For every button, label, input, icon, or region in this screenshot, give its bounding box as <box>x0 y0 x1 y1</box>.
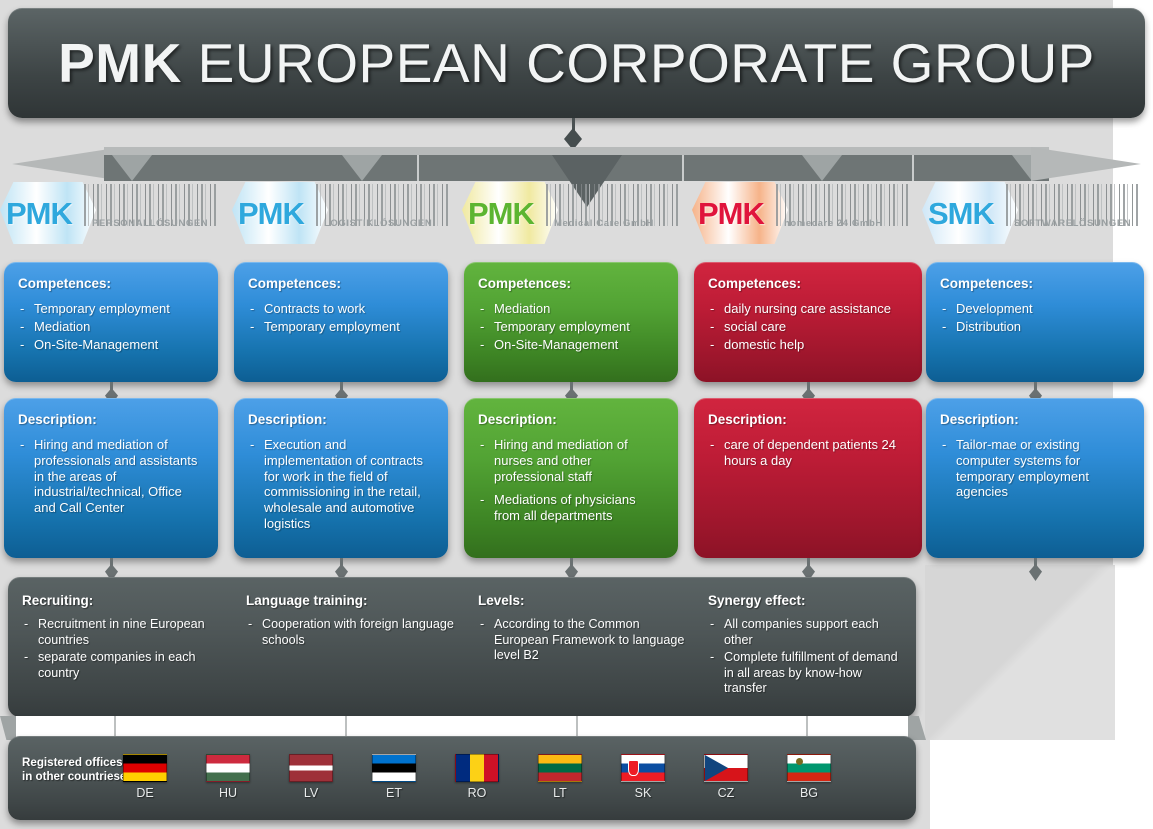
info-column-title: Levels: <box>478 593 688 608</box>
company-logo-1: PMKPERSONALLÖSUNGEN <box>0 178 230 250</box>
description-list: Hiring and mediation of nurses and other… <box>478 437 664 524</box>
description-list: Execution and implementation of contract… <box>248 437 434 532</box>
logo-wordmark: PMK <box>238 196 304 232</box>
flag-item-lv[interactable]: LV <box>286 754 336 800</box>
chevron-right-arrow-icon <box>1031 147 1141 181</box>
lithuania-flag <box>538 754 582 782</box>
competences-list-item: social care <box>708 319 908 335</box>
competences-title: Competences: <box>248 276 434 291</box>
description-title: Description: <box>708 412 908 427</box>
description-card-4: Description:care of dependent patients 2… <box>694 398 922 558</box>
description-list: care of dependent patients 24 hours a da… <box>708 437 908 469</box>
info-column-list-item: All companies support each other <box>708 617 908 648</box>
logo-subtitle: SOFTWARELÖSUNGEN <box>1014 218 1131 229</box>
info-column-1: Recruiting:Recruitment in nine European … <box>22 593 232 683</box>
competences-list-item: On-Site-Management <box>18 337 204 353</box>
flag-country-code: HU <box>203 786 253 800</box>
logo-wordmark: PMK <box>468 196 534 232</box>
competences-card-4: Competences:daily nursing care assistanc… <box>694 262 922 382</box>
description-list: Tailor-mae or existing computer systems … <box>940 437 1130 500</box>
info-column-list-item: Cooperation with foreign language school… <box>246 617 456 648</box>
info-column-2: Language training:Cooperation with forei… <box>246 593 456 650</box>
description-list-item: Mediations of physicians from all depart… <box>478 492 664 524</box>
description-list-item: care of dependent patients 24 hours a da… <box>708 437 908 469</box>
description-list-item: Hiring and mediation of professionals an… <box>18 437 204 516</box>
flag-item-sk[interactable]: SK <box>618 754 668 800</box>
competences-list-item: Development <box>940 301 1130 317</box>
company-logo-5: SMKSOFTWARELÖSUNGEN <box>922 178 1152 250</box>
logo-wordmark: PMK <box>698 196 764 232</box>
info-column-list: According to the Common European Framewo… <box>478 617 688 664</box>
competences-title: Competences: <box>18 276 204 291</box>
description-list-item: Hiring and mediation of nurses and other… <box>478 437 664 484</box>
flag-country-code: SK <box>618 786 668 800</box>
competences-card-2: Competences:Contracts to workTemporary e… <box>234 262 448 382</box>
flag-item-bg[interactable]: BG <box>784 754 834 800</box>
logo-subtitle: Medical Care GmbH <box>554 218 654 229</box>
info-column-list-item: Recruitment in nine European countries <box>22 617 232 648</box>
flag-item-lt[interactable]: LT <box>535 754 585 800</box>
description-card-2: Description:Execution and implementation… <box>234 398 448 558</box>
description-card-5: Description:Tailor-mae or existing compu… <box>926 398 1144 558</box>
bulgaria-flag-emblem <box>796 758 803 765</box>
competences-list-item: Contracts to work <box>248 301 434 317</box>
czech-flag-triangle <box>705 755 728 781</box>
company-logo-3: PMKMedical Care GmbH <box>462 178 692 250</box>
page-title: PMK EUROPEAN CORPORATE GROUP <box>58 31 1095 95</box>
description-list-item: Tailor-mae or existing computer systems … <box>940 437 1130 500</box>
info-column-list: Recruitment in nine European countriesse… <box>22 617 232 681</box>
info-column-list: Cooperation with foreign language school… <box>246 617 456 648</box>
info-column-4: Synergy effect:All companies support eac… <box>708 593 908 699</box>
flag-item-de[interactable]: DE <box>120 754 170 800</box>
competences-list-item: Temporary employment <box>248 319 434 335</box>
info-column-3: Levels:According to the Common European … <box>478 593 688 666</box>
page-title-bar: PMK EUROPEAN CORPORATE GROUP <box>8 8 1145 118</box>
info-column-list-item: Complete fulfillment of demand in all ar… <box>708 650 908 697</box>
competences-list: Contracts to workTemporary employment <box>248 301 434 335</box>
registered-offices-label-line2: in other countrieser: <box>22 770 135 784</box>
chevron-band <box>12 147 1141 181</box>
flag-item-hu[interactable]: HU <box>203 754 253 800</box>
description-title: Description: <box>940 412 1130 427</box>
romania-flag <box>455 754 499 782</box>
competences-card-1: Competences:Temporary employmentMediatio… <box>4 262 218 382</box>
competences-list: daily nursing care assistancesocial care… <box>708 301 908 352</box>
logo-wordmark: PMK <box>6 196 72 232</box>
company-logo-row: PMKPERSONALLÖSUNGENPMKLOGISTIKLÖSUNGENPM… <box>0 178 1153 250</box>
description-list: Hiring and mediation of professionals an… <box>18 437 204 516</box>
flag-country-code: RO <box>452 786 502 800</box>
slovakia-flag-emblem <box>628 760 639 776</box>
bulgaria-flag <box>787 754 831 782</box>
description-list-item: Execution and implementation of contract… <box>248 437 434 532</box>
competences-list-item: domestic help <box>708 337 908 353</box>
hungary-flag <box>206 754 250 782</box>
flag-country-code: LT <box>535 786 585 800</box>
info-column-list: All companies support each otherComplete… <box>708 617 908 697</box>
competences-list-item: Temporary employment <box>18 301 204 317</box>
slovakia-flag <box>621 754 665 782</box>
logo-subtitle: LOGISTIKLÖSUNGEN <box>324 218 432 229</box>
flag-item-cz[interactable]: CZ <box>701 754 751 800</box>
description-card-1: Description:Hiring and mediation of prof… <box>4 398 218 558</box>
background-diagonal-shade <box>925 565 1115 740</box>
description-card-3: Description:Hiring and mediation of nurs… <box>464 398 678 558</box>
logo-subtitle: homecare 24 GmbH <box>784 218 883 229</box>
competences-list-item: Distribution <box>940 319 1130 335</box>
info-column-title: Language training: <box>246 593 456 608</box>
flag-country-code: DE <box>120 786 170 800</box>
flag-country-code: LV <box>286 786 336 800</box>
description-title: Description: <box>248 412 434 427</box>
competences-list: Temporary employmentMediationOn-Site-Man… <box>18 301 204 352</box>
info-column-title: Synergy effect: <box>708 593 908 608</box>
competences-list-item: Mediation <box>18 319 204 335</box>
flag-item-et[interactable]: ET <box>369 754 419 800</box>
flag-country-code: ET <box>369 786 419 800</box>
flag-country-code: CZ <box>701 786 751 800</box>
company-logo-4: PMKhomecare 24 GmbH <box>692 178 922 250</box>
flag-item-ro[interactable]: RO <box>452 754 502 800</box>
competences-list-item: Temporary employment <box>478 319 664 335</box>
info-column-list-item: separate companies in each country <box>22 650 232 681</box>
competences-title: Competences: <box>478 276 664 291</box>
competences-list-item: Mediation <box>478 301 664 317</box>
competences-title: Competences: <box>708 276 908 291</box>
flag-country-code: BG <box>784 786 834 800</box>
shared-services-panel: Recruiting:Recruitment in nine European … <box>8 577 916 717</box>
czech-flag <box>704 754 748 782</box>
info-column-title: Recruiting: <box>22 593 232 608</box>
company-logo-2: PMKLOGISTIKLÖSUNGEN <box>232 178 462 250</box>
latvia-flag <box>289 754 333 782</box>
competences-card-3: Competences:MediationTemporary employmen… <box>464 262 678 382</box>
competences-list-item: On-Site-Management <box>478 337 664 353</box>
description-title: Description: <box>18 412 204 427</box>
logo-subtitle: PERSONALLÖSUNGEN <box>92 218 208 229</box>
registered-offices-label: Registered offices in other countrieser: <box>22 756 135 784</box>
description-title: Description: <box>478 412 664 427</box>
competences-list: MediationTemporary employmentOn-Site-Man… <box>478 301 664 352</box>
germany-flag <box>123 754 167 782</box>
registered-offices-bar: Registered offices in other countrieser:… <box>8 736 916 820</box>
estonia-flag <box>372 754 416 782</box>
page-title-brand: PMK <box>58 32 182 94</box>
competences-list: DevelopmentDistribution <box>940 301 1130 335</box>
competences-title: Competences: <box>940 276 1130 291</box>
page-title-rest: EUROPEAN CORPORATE GROUP <box>182 32 1095 94</box>
competences-list-item: daily nursing care assistance <box>708 301 908 317</box>
competences-card-5: Competences:DevelopmentDistribution <box>926 262 1144 382</box>
registered-offices-label-line1: Registered offices <box>22 756 135 770</box>
info-column-list-item: According to the Common European Framewo… <box>478 617 688 664</box>
logo-wordmark: SMK <box>928 196 994 232</box>
